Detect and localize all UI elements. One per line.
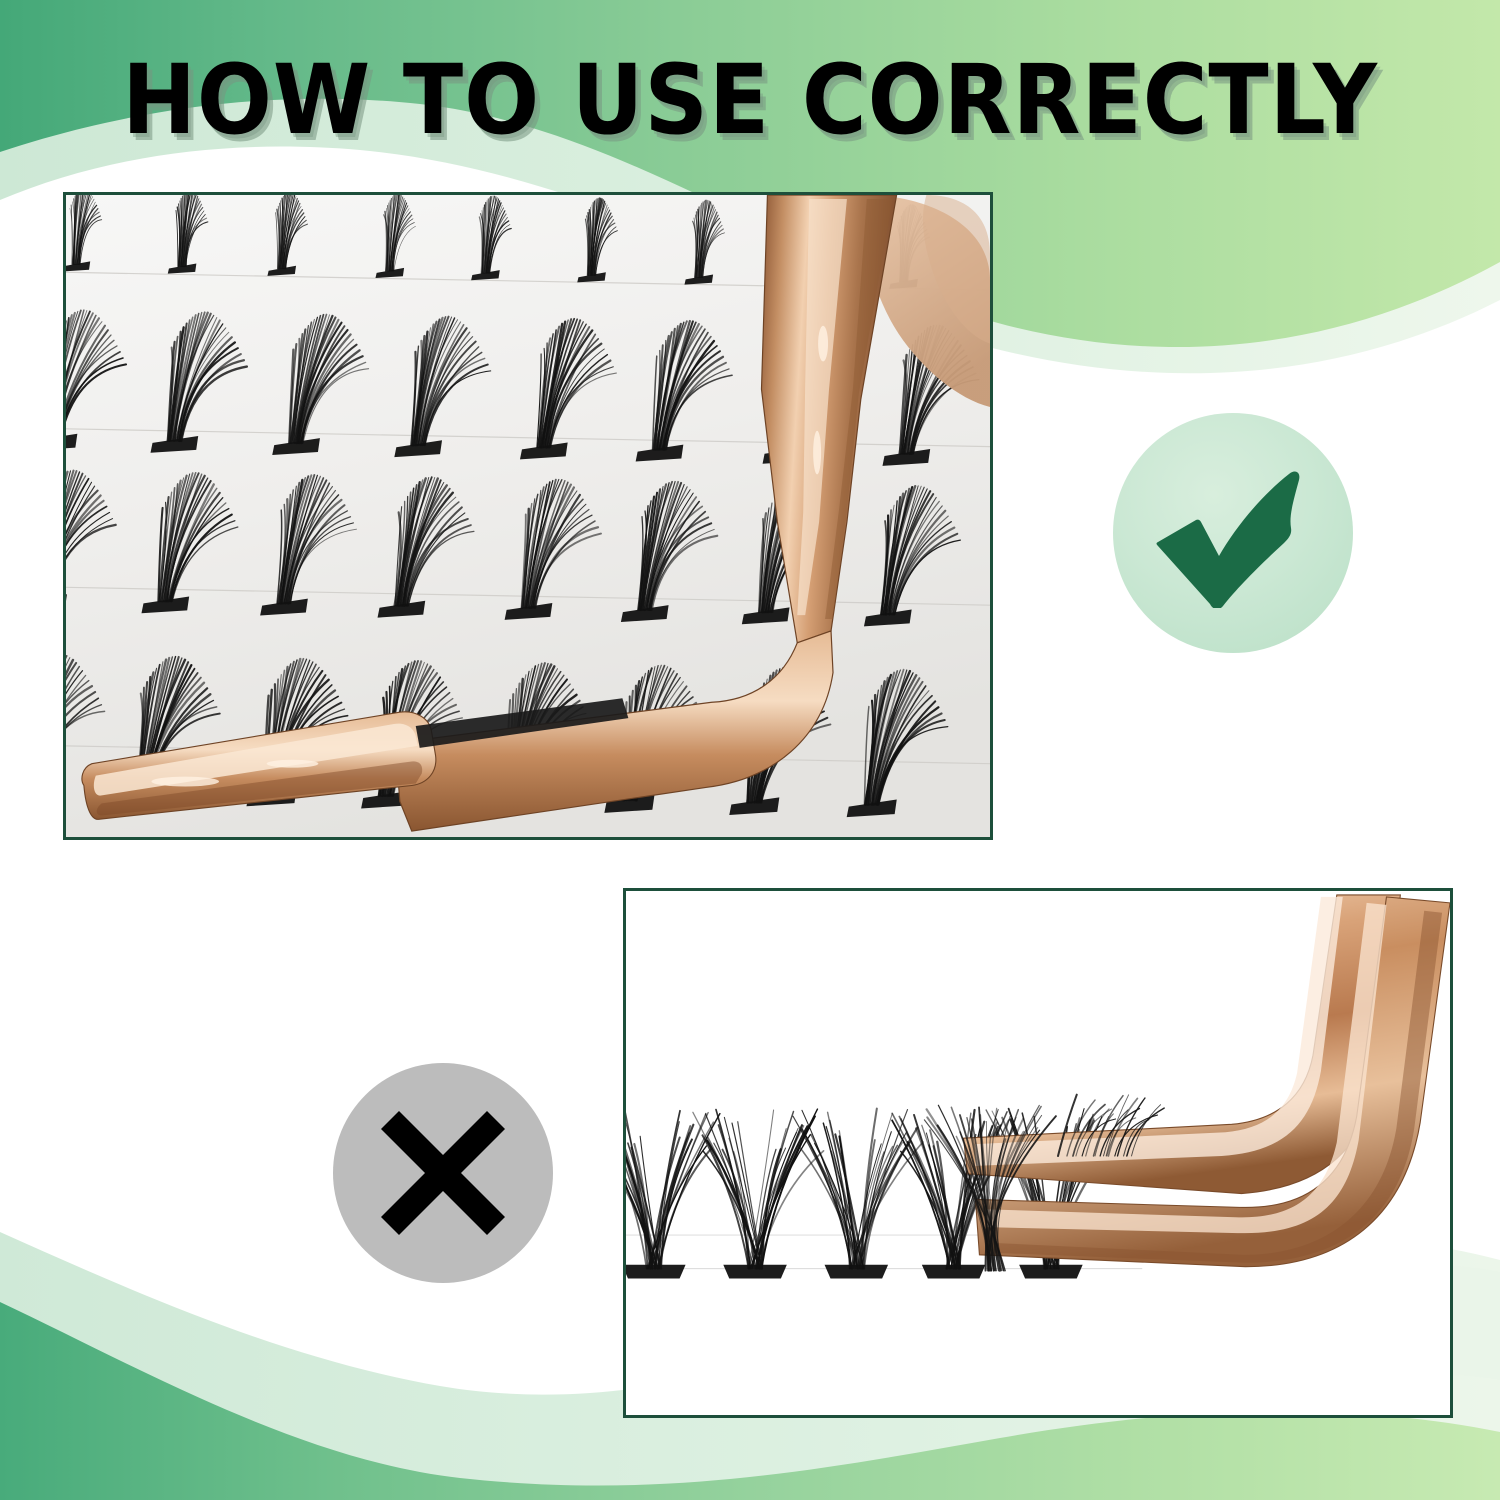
infographic-canvas: HOW TO USE CORRECTLY xyxy=(0,0,1500,1500)
photo-incorrect-technique xyxy=(623,888,1453,1418)
check-icon xyxy=(1149,458,1317,608)
photo-correct-technique xyxy=(63,192,993,840)
page-title: HOW TO USE CORRECTLY xyxy=(60,52,1440,148)
verdict-correct-badge xyxy=(1113,413,1353,653)
lash-tray-with-tweezers-illustration xyxy=(66,195,990,837)
x-icon xyxy=(375,1105,511,1241)
verdict-incorrect-badge xyxy=(333,1063,553,1283)
lash-row-wrong-grip-illustration xyxy=(626,891,1450,1415)
